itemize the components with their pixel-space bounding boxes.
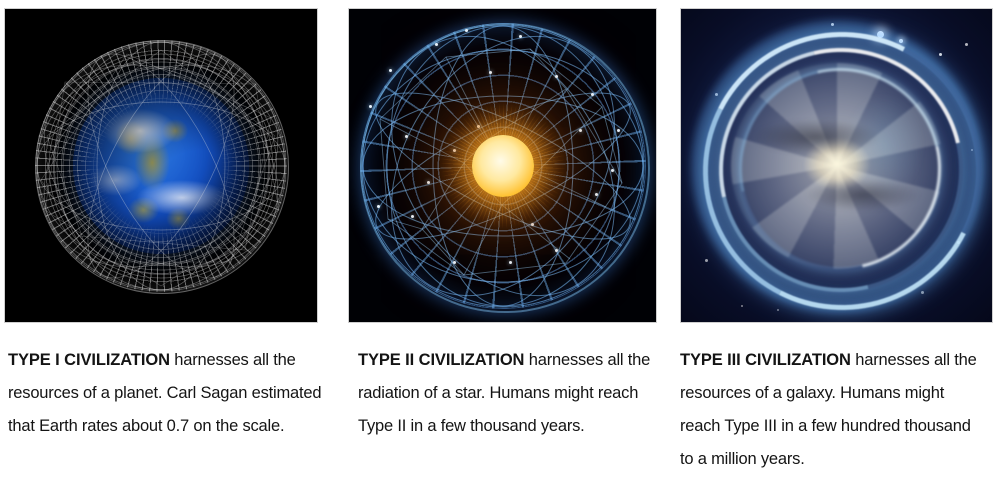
civilization-column-type-3: TYPE III CIVILIZATION harnesses all the … (672, 0, 1000, 503)
galaxy-rings-panel (680, 8, 993, 323)
earth-scene (5, 9, 317, 322)
mesh-inner-rim (54, 59, 270, 275)
caption-type-3: TYPE III CIVILIZATION harnesses all the … (680, 344, 986, 476)
dyson-scene (349, 9, 656, 322)
galaxy-scene (681, 9, 992, 322)
earth-mesh-panel (4, 8, 318, 323)
kardashev-scale-infographic: TYPE I CIVILIZATION harnesses all the re… (0, 0, 1000, 503)
civilization-column-type-1: TYPE I CIVILIZATION harnesses all the re… (0, 0, 340, 503)
caption-heading-type-1: TYPE I CIVILIZATION (8, 351, 170, 369)
civilization-column-list: TYPE I CIVILIZATION harnesses all the re… (0, 0, 1000, 503)
dyson-sphere-panel (348, 8, 657, 323)
caption-type-1: TYPE I CIVILIZATION harnesses all the re… (8, 344, 326, 443)
star-core-icon (472, 135, 534, 197)
civilization-column-type-2: TYPE II CIVILIZATION harnesses all the r… (340, 0, 672, 503)
caption-type-2: TYPE II CIVILIZATION harnesses all the r… (358, 344, 658, 443)
caption-heading-type-2: TYPE II CIVILIZATION (358, 351, 524, 369)
caption-heading-type-3: TYPE III CIVILIZATION (680, 351, 851, 369)
